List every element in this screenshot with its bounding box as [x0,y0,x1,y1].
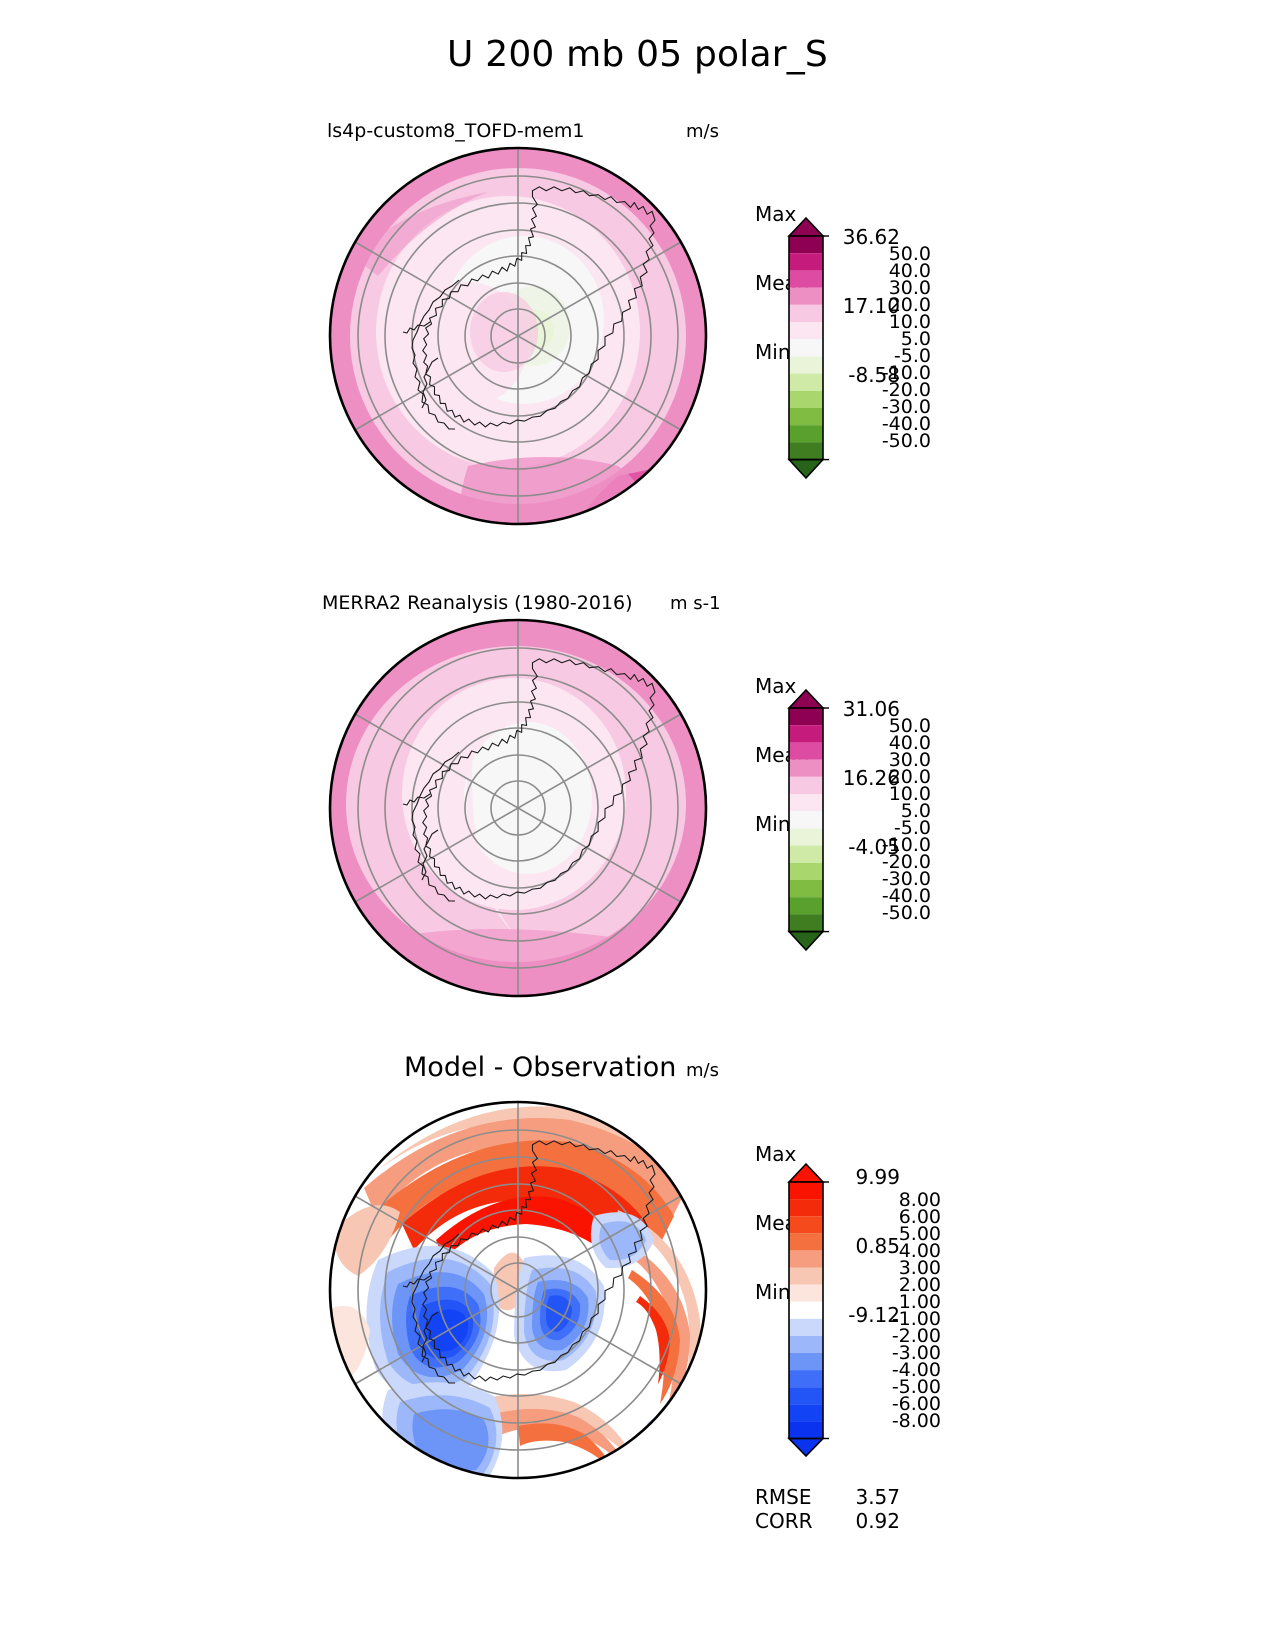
panel-difference-units: m/s [686,1060,719,1081]
polar-map-observation-svg [318,608,718,1008]
contour-field [330,620,718,1008]
difference-footer-stats: RMSE 3.57 CORR 0.92 [755,1485,900,1533]
stat-value: 0.92 [855,1509,900,1533]
polar-map-model-svg [318,136,718,536]
cbar-tick: -8.00 [892,1410,941,1432]
stat-key: CORR [755,1509,813,1533]
cbar-tick: -50.0 [882,902,931,924]
colorbar-swatches [789,690,829,950]
contour-field [330,148,718,536]
colorbar-swatches [789,1164,829,1456]
stat-row: RMSE 3.57 [755,1485,900,1509]
colorbar-model: 50.0 40.0 30.0 20.0 10.0 5.0 -5.0 -10.0 … [785,210,829,489]
stat-row: CORR 0.92 [755,1509,900,1533]
colorbar-swatches [789,218,829,478]
colorbar-observation-svg [785,682,829,957]
colorbar-difference: 8.00 6.00 5.00 4.00 3.00 2.00 1.00 -1.00… [785,1156,829,1465]
page-title: U 200 mb 05 polar_S [0,34,1275,75]
polar-map-difference-svg [318,1090,718,1490]
colorbar-observation: 50.0 40.0 30.0 20.0 10.0 5.0 -5.0 -10.0 … [785,682,829,961]
colorbar-difference-ticklabels: 8.00 6.00 5.00 4.00 3.00 2.00 1.00 -1.00… [837,1156,957,1461]
colorbar-model-svg [785,210,829,485]
colorbar-difference-svg [785,1156,829,1461]
polar-map-observation [318,608,718,1008]
panel-difference-subtitle: Model - Observation [404,1052,676,1083]
figure-canvas: U 200 mb 05 polar_S ls4p-custom8_TOFD-me… [0,0,1275,1650]
stat-row: Max 36.62 [755,180,900,203]
panel-observation: MERRA2 Reanalysis (1980-2016) m s-1 Max … [0,582,1275,616]
polar-map-model [318,136,718,536]
stat-value: 3.57 [855,1485,900,1509]
panel-model: ls4p-custom8_TOFD-mem1 m/s Max 36.62 Mea… [0,110,1275,144]
stat-row: Max 9.99 [755,1120,900,1143]
polar-map-difference [318,1090,718,1490]
stat-row: Max 31.06 [755,652,900,675]
panel-difference-header: Model - Observation m/s [0,1048,1275,1082]
cbar-tick: -50.0 [882,430,931,452]
colorbar-model-ticklabels: 50.0 40.0 30.0 20.0 10.0 5.0 -5.0 -10.0 … [837,210,957,485]
panel-difference: Model - Observation m/s Max 9.99 Mean 0.… [0,1048,1275,1082]
colorbar-observation-ticklabels: 50.0 40.0 30.0 20.0 10.0 5.0 -5.0 -10.0 … [837,682,957,957]
stat-key: RMSE [755,1485,811,1509]
